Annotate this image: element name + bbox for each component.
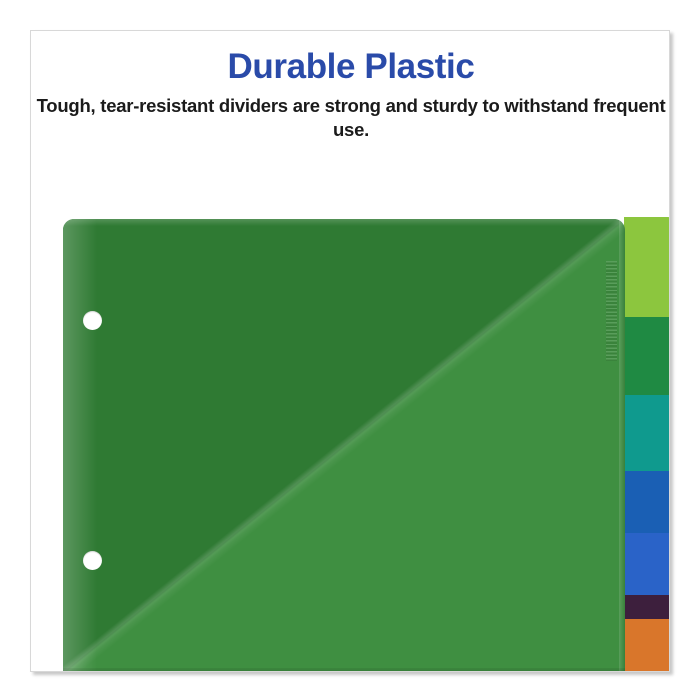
tab-bright-blue — [624, 533, 670, 595]
binder-hole-top — [83, 311, 102, 330]
tab-blue — [624, 471, 670, 533]
pocket-bottom-seam — [63, 668, 625, 672]
tab-orange — [624, 619, 670, 672]
headline-block: Durable Plastic Tough, tear-resistant di… — [31, 47, 670, 142]
product-feature-card: Durable Plastic Tough, tear-resistant di… — [30, 30, 670, 672]
divider-sheet — [63, 219, 625, 672]
tab-light-green — [624, 217, 670, 317]
tab-purple — [624, 595, 670, 619]
divider-product-image — [63, 189, 670, 672]
sheet-left-sheen — [63, 219, 97, 672]
flap-top-edge — [63, 219, 625, 226]
pocket-fold-highlight — [63, 219, 625, 672]
binder-hole-bottom — [83, 551, 102, 570]
page-title: Durable Plastic — [31, 47, 670, 86]
page-subtitle: Tough, tear-resistant dividers are stron… — [31, 94, 670, 141]
tab-teal — [624, 395, 670, 471]
binding-texture-strip — [606, 261, 617, 361]
sheet-right-seam — [619, 219, 625, 672]
tab-green — [624, 317, 670, 395]
